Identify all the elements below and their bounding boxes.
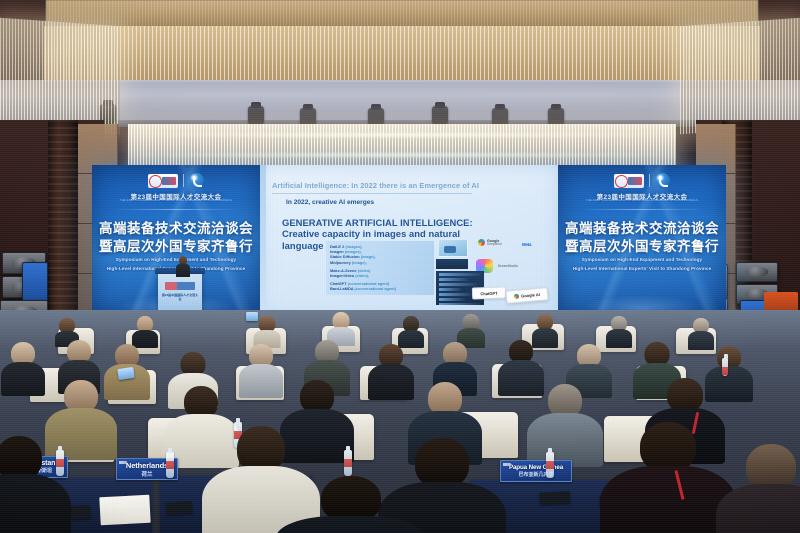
slide-model-list: DaII-E 2 (images), Imagen (images), Stab… (326, 241, 434, 295)
list-item: Bard-LaMDA (conversational agent) (330, 286, 430, 291)
placard-country-en: Papua New Guinea (509, 464, 563, 471)
attendee-foreground (736, 444, 800, 533)
spotlight-icon (248, 106, 264, 126)
water-bottle (344, 450, 352, 476)
attendee (690, 318, 712, 346)
attendee (292, 380, 342, 452)
water-bottle (722, 358, 728, 376)
banner-title-line1: 高端装备技术交流洽谈会 (92, 217, 260, 237)
attendee-foreground (306, 476, 396, 533)
attendee (608, 316, 630, 344)
attendee-body (1, 362, 45, 396)
sample-image-thumb-dark (436, 259, 468, 269)
attendee (540, 384, 590, 456)
smartphone (166, 501, 193, 515)
placard-badge-icon (503, 463, 511, 467)
attendee (244, 344, 278, 392)
attendee (504, 340, 538, 390)
attendee (256, 316, 278, 344)
qilu-logo-icon (655, 173, 670, 188)
logo-divider (183, 174, 184, 187)
banner-subtitle-en-line1: Symposium on High-End Equipment and Tech… (566, 257, 718, 262)
qilu-logo-icon (189, 173, 204, 188)
attendee-body (527, 413, 603, 467)
slide-subtitle: In 2022, creative AI emerges (286, 199, 374, 206)
ciep-logo-icon (614, 174, 644, 188)
attendee (400, 316, 422, 344)
podium-logo-icon (165, 282, 195, 290)
slide-headline-line1: GENERATIVE ARTIFICIAL INTELLIGENCE: (282, 217, 473, 228)
attendee (6, 342, 40, 390)
sample-image-thumb (438, 239, 468, 257)
attendee (134, 316, 156, 344)
slide-sidebar (260, 165, 266, 317)
audience-area: Kyrgyzstan 吉尔吉斯斯坦 Netherlands 荷兰 Papua N… (0, 310, 800, 533)
conference-hall-photo: 第23届中国国际人才交流大会 THE 23RD CONFERENCE ON IN… (0, 0, 800, 533)
spotlight-icon (432, 106, 448, 126)
smartphone-screen-on (246, 312, 258, 321)
banner-conference-name-en: THE 23RD CONFERENCE ON INTERNATIONAL EXC… (558, 199, 726, 202)
attendee-head (667, 378, 703, 412)
attendee-body (498, 360, 544, 396)
placard-country-en: Netherlands (126, 461, 168, 470)
attendee-body (606, 329, 632, 348)
water-bottle (166, 452, 174, 478)
logo-divider (649, 174, 650, 187)
banner-divider-rule (580, 209, 704, 210)
banner-divider-rule (114, 209, 238, 210)
attendee-foreground (0, 436, 52, 533)
dreamstudio-label: DreamStudio (498, 264, 518, 268)
attendee (460, 314, 482, 344)
water-bottle (546, 452, 554, 478)
google-dot-icon (478, 239, 485, 246)
attendee (330, 312, 352, 342)
attendee-body (368, 364, 414, 400)
attendee-foreground (226, 426, 296, 533)
chandelier-left (0, 18, 120, 134)
placard-badge-icon (119, 461, 127, 465)
banner-title-line2: 暨高层次外国专家齐鲁行 (92, 235, 260, 255)
banner-title-line2: 暨高层次外国专家齐鲁行 (558, 235, 726, 255)
presenter (176, 256, 190, 276)
attendee-body (688, 331, 714, 350)
banner-conference-name-en: THE 23RD CONFERENCE ON INTERNATIONAL EXC… (92, 199, 260, 202)
slide-headline-line3: language (282, 240, 324, 251)
banner-logos-right (614, 173, 670, 188)
meta-logo: Meta (522, 242, 531, 247)
attendee-body (239, 364, 283, 398)
water-bottle (56, 450, 64, 476)
smartphone-screen-on (117, 367, 134, 380)
slide-title-rule (272, 193, 472, 194)
name-placard-papua-new-guinea: Papua New Guinea 巴布亚新几内亚 (500, 460, 572, 482)
document-paper (99, 495, 150, 526)
presentation-slide: Artificial Intelligence: In 2022 there i… (260, 165, 558, 317)
podium-badge-text: 第23届中国国际人才交流大会 (161, 293, 199, 301)
ciep-logo-icon (148, 174, 178, 188)
attendee-body (705, 366, 753, 402)
chatgpt-card: ChatGPT (472, 286, 506, 299)
google-deepmind-logo: Google DeepMind (478, 239, 502, 247)
attendee-foreground (628, 422, 708, 533)
slide-logo-cluster: Google DeepMind Meta DreamStudio ChatGPT (434, 237, 552, 309)
chandelier-right (680, 18, 800, 134)
slide-title: Artificial Intelligence: In 2022 there i… (272, 181, 548, 190)
google-ai-card: Google AI (506, 287, 549, 304)
attendee-foreground (404, 438, 480, 533)
attendee-head (415, 438, 469, 488)
banner-subtitle-en-line2: High-Level International Experts' Visit … (566, 266, 718, 271)
screen-banner-right: 第23届中国国际人才交流大会 THE 23RD CONFERENCE ON IN… (558, 165, 726, 317)
speaker-stack-right (736, 262, 778, 282)
ceiling-gold-trim (46, 0, 758, 28)
google-dot-icon (514, 294, 519, 299)
smartphone (540, 491, 571, 505)
banner-title-line1: 高端装备技术交流洽谈会 (558, 217, 726, 237)
banner-logos-left (148, 173, 204, 188)
attendee (56, 380, 106, 450)
attendee (712, 346, 746, 394)
placard-country-zh: 荷兰 (141, 470, 152, 478)
ceiling-soffit (44, 26, 760, 82)
attendee (176, 386, 226, 458)
deepmind-line2: DeepMind (487, 243, 502, 247)
presenter-body (176, 264, 190, 277)
attendee-head (640, 422, 696, 472)
attendee (374, 344, 408, 392)
